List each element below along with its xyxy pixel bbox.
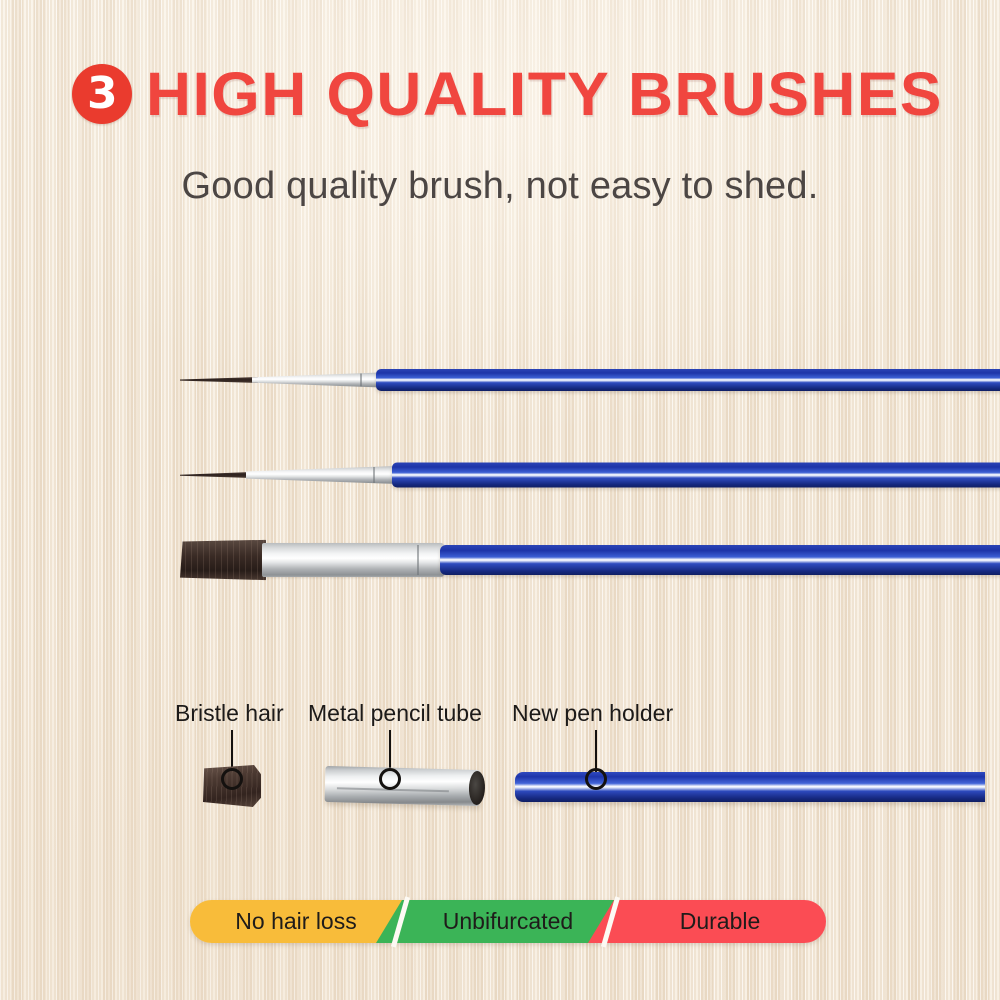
brush-fine-liner-medium [180,455,1000,495]
leader-dot-new-pen-holder [585,768,607,790]
callout-label-new-pen-holder: New pen holder [512,700,673,727]
metal-tube-part [325,766,481,806]
background-texture [0,0,1000,1000]
header: 3 HIGH QUALITY BRUSHES [0,52,1000,136]
ribbon-segment-unbifurcated: Unbifurcated [376,900,614,943]
brush-tip-icon [180,472,252,478]
leader-dot-metal-pencil-tube [379,768,401,790]
callout-label-bristle-hair: Bristle hair [175,700,284,727]
ribbon-segment-durable: Durable [588,900,826,943]
infographic-canvas: 3 HIGH QUALITY BRUSHES Good quality brus… [0,0,1000,1000]
leader-dot-bristle-hair [221,768,243,790]
step-number-badge: 3 [72,64,132,124]
page-subtitle: Good quality brush, not easy to shed. [0,165,1000,208]
ribbon-segment-no-hair-loss: No hair loss [190,900,402,943]
brush-ferrule [252,373,380,388]
feature-ribbon: No hair loss Unbifurcated Durable [190,900,826,943]
brush-handle [392,463,1000,488]
tube-opening [469,771,486,805]
page-title: HIGH QUALITY BRUSHES [146,59,943,129]
brush-fine-liner-small [180,360,1000,400]
bristle-strands [180,539,266,581]
brush-ferrule [246,466,396,484]
brush-handle [376,369,1000,391]
callout-label-metal-pencil-tube: Metal pencil tube [308,700,482,727]
brush-tip-icon [180,377,258,383]
brush-ferrule [262,543,444,577]
brush-tip-icon [180,539,266,581]
brush-flat [180,540,1000,580]
brush-handle [440,545,1000,575]
